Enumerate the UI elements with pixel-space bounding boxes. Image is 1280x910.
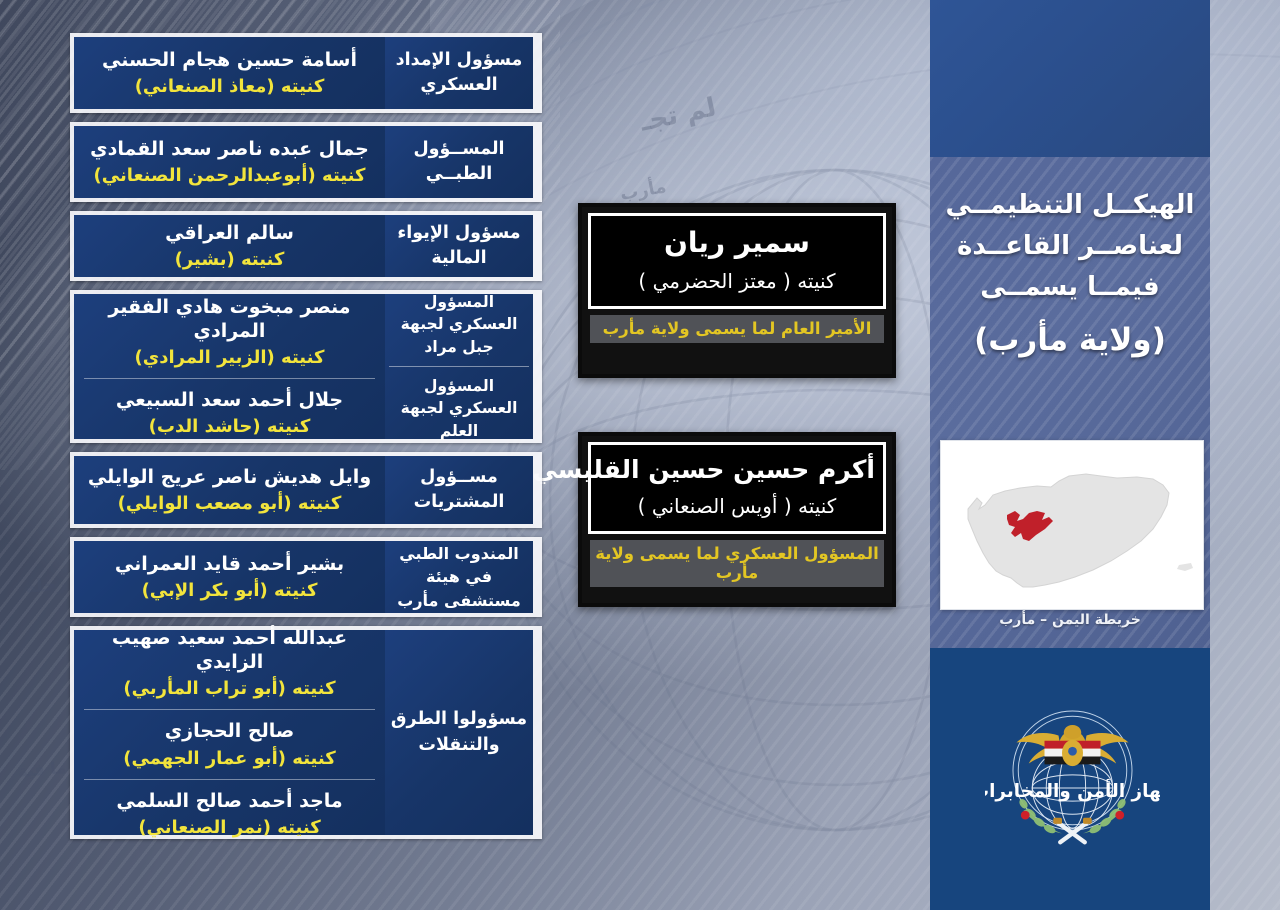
- page-title-line-2: لعناصــر القاعــدة: [930, 226, 1210, 267]
- person-kunya: كنيته (أبو مصعب الوايلي): [84, 492, 375, 515]
- table-row[interactable]: مسؤولوا الطرق والتنقلات عبدالله أحمد سعي…: [70, 626, 542, 839]
- person-entry: صالح الحجازي كنيته (أبو عمار الجهمي): [84, 709, 375, 769]
- role-label: المسؤول العسكري لجبهة جبل مراد: [389, 289, 529, 360]
- person-name: صالح الحجازي: [84, 719, 375, 743]
- role-cell: مسؤول الإمداد العسكري: [385, 37, 533, 109]
- leader-card-inner: سمير ريان كنيته ( معتز الحضرمي ): [588, 213, 886, 309]
- role-cell: المندوب الطبي في هيئة مستشفى مأرب: [385, 541, 533, 613]
- role-cell: المسؤول العسكري لجبهة جبل مراد المسؤول ا…: [385, 294, 533, 439]
- leader-name: سمير ريان: [599, 226, 875, 260]
- person-kunya: كنيته (أبو بكر الإبي): [84, 579, 375, 602]
- role-cell: مسؤول الإيواء المالية: [385, 215, 533, 277]
- person-name: وايل هديش ناصر عريج الوايلي: [84, 465, 375, 489]
- table-row[interactable]: المندوب الطبي في هيئة مستشفى مأرب بشير أ…: [70, 537, 542, 617]
- leader-card-military-chief[interactable]: أكرم حسين حسين القليسي كنيته ( أويس الصن…: [578, 432, 896, 607]
- role-label: المســؤول الطبــي: [389, 135, 529, 190]
- names-cell: منصر مبخوت هادي الفقير المرادي كنيته (ال…: [74, 294, 385, 439]
- table-row[interactable]: مســؤول المشتريات وايل هديش ناصر عريج ال…: [70, 452, 542, 528]
- infographic-canvas: لم تجـ مأرب مأرب رحلة ما فية ل الهيكــل …: [0, 0, 1280, 910]
- yemen-map-svg: [941, 441, 1203, 609]
- person-entry: أسامة حسين هجام الحسني كنيته (معاذ الصنع…: [84, 48, 375, 98]
- page-title-line-1: الهيكــل التنظيمــي: [930, 185, 1210, 226]
- role-label: المسؤول العسكري لجبهة العلم: [389, 366, 529, 444]
- table-row[interactable]: مسؤول الإيواء المالية سالم العراقي كنيته…: [70, 211, 542, 281]
- table-row[interactable]: المسؤول العسكري لجبهة جبل مراد المسؤول ا…: [70, 290, 542, 443]
- person-kunya: كنيته (الزبير المرادي): [84, 346, 375, 369]
- person-entry: بشير أحمد قايد العمراني كنيته (أبو بكر ا…: [84, 552, 375, 602]
- names-cell: عبدالله أحمد سعيد صهيب الزايدي كنيته (أب…: [74, 630, 385, 835]
- leader-kunya: كنيته ( معتز الحضرمي ): [599, 269, 875, 293]
- leader-name: أكرم حسين حسين القليسي: [599, 455, 875, 485]
- person-name: بشير أحمد قايد العمراني: [84, 552, 375, 576]
- role-cell: المســؤول الطبــي: [385, 126, 533, 198]
- role-label: المندوب الطبي في هيئة مستشفى مأرب: [389, 540, 529, 614]
- yemen-security-intelligence-emblem: جهاز الأمن والمخابرات: [985, 690, 1160, 865]
- leader-card-inner: أكرم حسين حسين القليسي كنيته ( أويس الصن…: [588, 442, 886, 534]
- person-kunya: كنيته (حاشد الدب): [84, 415, 375, 438]
- names-cell: سالم العراقي كنيته (بشير): [74, 215, 385, 277]
- yemen-map: [940, 440, 1204, 610]
- person-entry: وايل هديش ناصر عريج الوايلي كنيته (أبو م…: [84, 465, 375, 515]
- person-name: ماجد أحمد صالح السلمي: [84, 789, 375, 813]
- page-title-line-4: (ولاية مأرب): [930, 316, 1210, 365]
- leader-role-label: الأمير العام لما يسمى ولاية مأرب: [590, 315, 884, 343]
- leader-role-label: المسؤول العسكري لما يسمى ولاية مأرب: [590, 540, 884, 587]
- person-name: سالم العراقي: [84, 221, 375, 245]
- role-label: مســؤول المشتريات: [389, 463, 529, 518]
- table-row[interactable]: مسؤول الإمداد العسكري أسامة حسين هجام ال…: [70, 33, 542, 113]
- role-label: مسؤول الإيواء المالية: [389, 219, 529, 274]
- role-cell: مسؤولوا الطرق والتنقلات: [385, 630, 533, 835]
- leader-kunya: كنيته ( أويس الصنعاني ): [599, 494, 875, 518]
- person-name: جمال عبده ناصر سعد القمادي: [84, 137, 375, 161]
- role-label: مسؤول الإمداد العسكري: [389, 46, 529, 101]
- emblem-calligraphy: جهاز الأمن والمخابرات: [985, 779, 1160, 802]
- person-name: منصر مبخوت هادي الفقير المرادي: [84, 295, 375, 344]
- page-title-line-3: فيمــا يسمــى: [930, 267, 1210, 308]
- right-panel-top-band: [930, 0, 1210, 157]
- person-entry: سالم العراقي كنيته (بشير): [84, 221, 375, 271]
- leader-card-general-emir[interactable]: سمير ريان كنيته ( معتز الحضرمي ) الأمير …: [578, 203, 896, 378]
- person-entry: منصر مبخوت هادي الفقير المرادي كنيته (ال…: [84, 295, 375, 370]
- names-cell: وايل هديش ناصر عريج الوايلي كنيته (أبو م…: [74, 456, 385, 524]
- person-entry: عبدالله أحمد سعيد صهيب الزايدي كنيته (أب…: [84, 626, 375, 701]
- role-cell: مســؤول المشتريات: [385, 456, 533, 524]
- person-name: جلال أحمد سعد السبيعي: [84, 388, 375, 412]
- page-title: الهيكــل التنظيمــي لعناصــر القاعــدة ف…: [930, 185, 1210, 365]
- person-kunya: كنيته (أبو عمار الجهمي): [84, 747, 375, 770]
- roles-table: مسؤول الإمداد العسكري أسامة حسين هجام ال…: [70, 33, 542, 848]
- table-row[interactable]: المســؤول الطبــي جمال عبده ناصر سعد الق…: [70, 122, 542, 202]
- person-entry: ماجد أحمد صالح السلمي كنيته (نمر الصنعان…: [84, 779, 375, 839]
- yemen-map-caption: خريطة اليمن – مأرب: [930, 612, 1210, 628]
- names-cell: أسامة حسين هجام الحسني كنيته (معاذ الصنع…: [74, 37, 385, 109]
- person-name: أسامة حسين هجام الحسني: [84, 48, 375, 72]
- names-cell: بشير أحمد قايد العمراني كنيته (أبو بكر ا…: [74, 541, 385, 613]
- person-kunya: كنيته (بشير): [84, 248, 375, 271]
- names-cell: جمال عبده ناصر سعد القمادي كنيته (أبوعبد…: [74, 126, 385, 198]
- person-kunya: كنيته (أبوعبدالرحمن الصنعاني): [84, 164, 375, 187]
- person-kunya: كنيته (معاذ الصنعاني): [84, 75, 375, 98]
- person-kunya: كنيته (نمر الصنعاني): [84, 816, 375, 839]
- person-entry: جمال عبده ناصر سعد القمادي كنيته (أبوعبد…: [84, 137, 375, 187]
- person-name: عبدالله أحمد سعيد صهيب الزايدي: [84, 626, 375, 675]
- role-label: مسؤولوا الطرق والتنقلات: [389, 705, 529, 760]
- person-entry: جلال أحمد سعد السبيعي كنيته (حاشد الدب): [84, 378, 375, 438]
- person-kunya: كنيته (أبو تراب المأربي): [84, 677, 375, 700]
